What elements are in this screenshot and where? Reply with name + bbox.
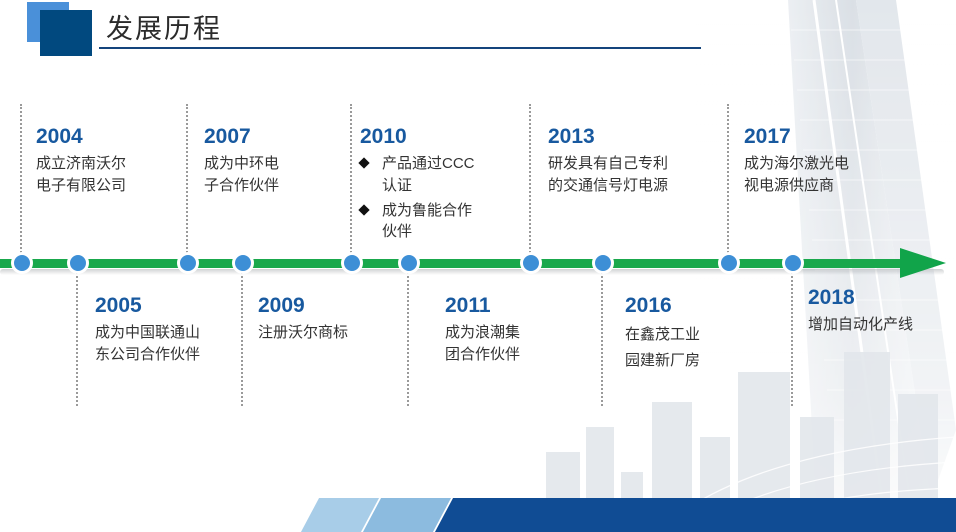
timeline-dot-2018[interactable] xyxy=(782,252,804,274)
event-text-line: 成为中环电 xyxy=(204,153,344,175)
connector-stem-2004 xyxy=(20,104,22,260)
footer-band-dark xyxy=(435,498,956,532)
event-text-line: 伙伴 xyxy=(382,223,412,240)
event-text-line: 成为鲁能合作 xyxy=(382,202,472,219)
timeline-event-2017[interactable]: 2017 成为海尔激光电 视电源供应商 xyxy=(744,125,914,197)
event-bullet-list-2010: 产品通过CCC 认证 成为鲁能合作 伙伴 xyxy=(360,153,532,243)
timeline-dot-2010[interactable] xyxy=(341,252,363,274)
header-accent-square-dark xyxy=(40,10,92,56)
event-text-line: 成为中国联通山 xyxy=(95,322,250,344)
event-year-2009: 2009 xyxy=(258,294,408,317)
header-divider-rule xyxy=(99,47,701,49)
timeline-event-2004[interactable]: 2004 成立济南沃尔 电子有限公司 xyxy=(36,125,186,197)
event-year-2010: 2010 xyxy=(360,125,532,148)
connector-stem-2005 xyxy=(76,268,78,406)
event-text-line: 视电源供应商 xyxy=(744,175,914,197)
event-bullet-item: 成为鲁能合作 伙伴 xyxy=(360,200,532,244)
timeline-event-2010[interactable]: 2010 产品通过CCC 认证 成为鲁能合作 伙伴 xyxy=(360,125,532,246)
timeline-dot-2011[interactable] xyxy=(398,252,420,274)
event-text-line: 增加自动化产线 xyxy=(808,314,956,336)
diamond-bullet-icon xyxy=(358,204,369,215)
event-text-line: 研发具有自己专利 xyxy=(548,153,728,175)
timeline-dot-2017[interactable] xyxy=(718,252,740,274)
event-text-line: 电子有限公司 xyxy=(36,175,186,197)
event-text-2007: 成为中环电 子合作伙伴 xyxy=(204,153,344,197)
event-year-2011: 2011 xyxy=(445,294,585,317)
event-text-line: 注册沃尔商标 xyxy=(258,322,408,344)
page-title: 发展历程 xyxy=(106,7,222,46)
timeline-dot-2004[interactable] xyxy=(11,252,33,274)
event-year-2018: 2018 xyxy=(808,286,956,309)
timeline-event-2005[interactable]: 2005 成为中国联通山 东公司合作伙伴 xyxy=(95,294,250,366)
timeline-event-2007[interactable]: 2007 成为中环电 子合作伙伴 xyxy=(204,125,344,197)
event-year-2016: 2016 xyxy=(625,294,770,317)
timeline-bar-shadow xyxy=(0,269,944,275)
timeline-bar xyxy=(0,259,910,268)
event-text-2018: 增加自动化产线 xyxy=(808,314,956,336)
event-text-2005: 成为中国联通山 东公司合作伙伴 xyxy=(95,322,250,366)
event-text-2013: 研发具有自己专利 的交通信号灯电源 xyxy=(548,153,728,197)
timeline-event-2009[interactable]: 2009 注册沃尔商标 xyxy=(258,294,408,344)
event-text-line: 产品通过CCC xyxy=(382,155,475,172)
event-text-line: 成为浪潮集 xyxy=(445,322,585,344)
diamond-bullet-icon xyxy=(358,157,369,168)
timeline-dot-2013[interactable] xyxy=(520,252,542,274)
timeline-dot-2005[interactable] xyxy=(67,252,89,274)
connector-stem-2010 xyxy=(350,104,352,260)
event-text-line: 认证 xyxy=(382,177,412,194)
event-text-line: 东公司合作伙伴 xyxy=(95,344,250,366)
event-text-line: 园建新厂房 xyxy=(625,348,770,374)
event-text-line: 成为海尔激光电 xyxy=(744,153,914,175)
event-text-2011: 成为浪潮集 团合作伙伴 xyxy=(445,322,585,366)
timeline-dot-2007[interactable] xyxy=(177,252,199,274)
event-year-2005: 2005 xyxy=(95,294,250,317)
event-text-2016: 在鑫茂工业 园建新厂房 xyxy=(625,322,770,375)
event-text-line: 在鑫茂工业 xyxy=(625,322,770,348)
event-year-2017: 2017 xyxy=(744,125,914,148)
event-year-2007: 2007 xyxy=(204,125,344,148)
connector-stem-2016 xyxy=(601,268,603,406)
timeline-dot-2016[interactable] xyxy=(592,252,614,274)
event-text-2017: 成为海尔激光电 视电源供应商 xyxy=(744,153,914,197)
slide-canvas: 发展历程 2004 成立济南沃尔 电子有限公司 2007 成为中环电 子合作伙伴 xyxy=(0,0,956,532)
timeline-dot-2009[interactable] xyxy=(232,252,254,274)
event-text-line: 子合作伙伴 xyxy=(204,175,344,197)
event-text-line: 团合作伙伴 xyxy=(445,344,585,366)
timeline-event-2016[interactable]: 2016 在鑫茂工业 园建新厂房 xyxy=(625,294,770,375)
event-bullet-item: 产品通过CCC 认证 xyxy=(360,153,532,197)
event-text-2004: 成立济南沃尔 电子有限公司 xyxy=(36,153,186,197)
timeline-arrow-icon xyxy=(900,248,946,278)
connector-stem-2018 xyxy=(791,268,793,406)
event-text-line: 成立济南沃尔 xyxy=(36,153,186,175)
event-text-line: 的交通信号灯电源 xyxy=(548,175,728,197)
event-year-2013: 2013 xyxy=(548,125,728,148)
timeline-event-2013[interactable]: 2013 研发具有自己专利 的交通信号灯电源 xyxy=(548,125,728,197)
timeline-event-2011[interactable]: 2011 成为浪潮集 团合作伙伴 xyxy=(445,294,585,366)
timeline-event-2018[interactable]: 2018 增加自动化产线 xyxy=(808,286,956,336)
event-text-2009: 注册沃尔商标 xyxy=(258,322,408,344)
connector-stem-2007 xyxy=(186,104,188,260)
event-year-2004: 2004 xyxy=(36,125,186,148)
